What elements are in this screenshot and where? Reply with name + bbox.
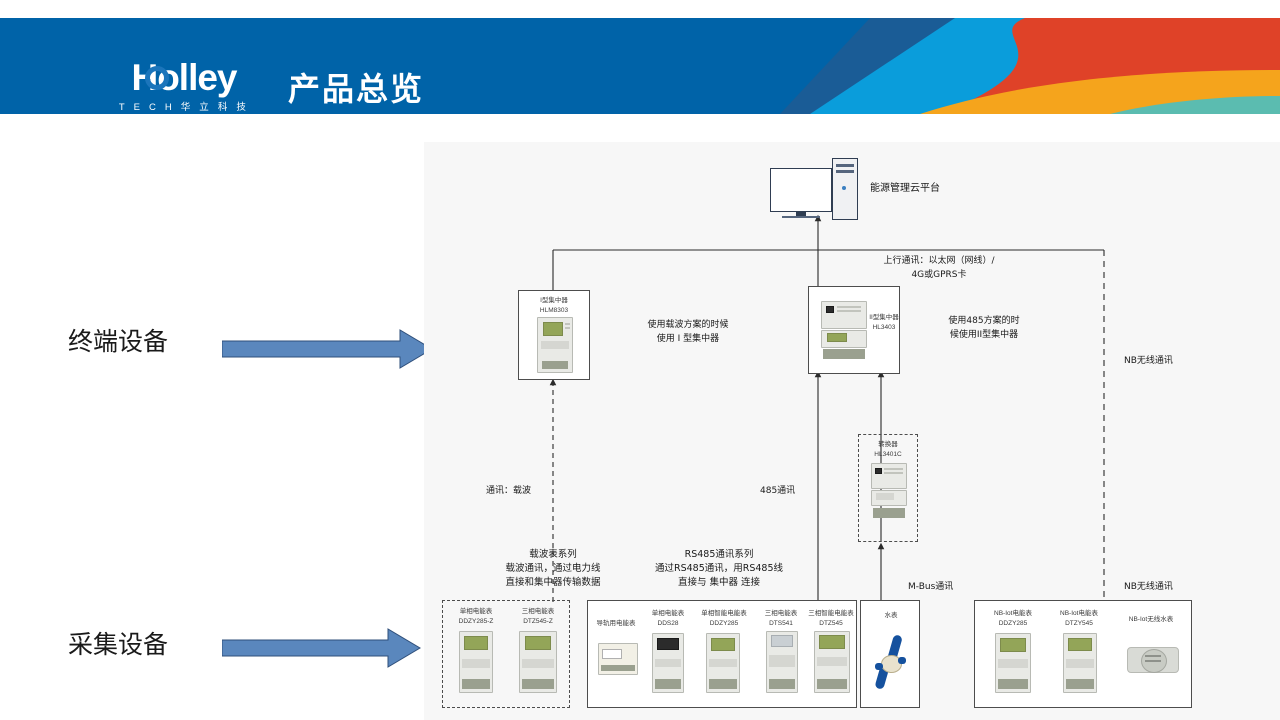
carrier-meter-group[interactable]: 单相电能表 DDZY285-Z 三相电能表 DTZ545-Z	[442, 600, 570, 708]
rs485-meter-0-image	[598, 643, 638, 675]
concentrator-type1-image	[537, 317, 573, 373]
nbiot-meter-1-model: DTZY545	[1049, 619, 1109, 628]
rs485-meter-2-model: DDZY285	[692, 619, 756, 628]
converter-node[interactable]: 转换器 HL3401C	[858, 434, 918, 542]
arrow-collection-equipment	[222, 627, 422, 669]
link-label-nb-bottom: NB无线通讯	[1124, 580, 1173, 594]
carrier-meter-0-name: 单相电能表	[449, 607, 503, 616]
concentrator-type1-note-line2: 使用 I 型集中器	[598, 332, 778, 346]
pc-tower-slot-icon	[836, 164, 854, 167]
rs485-meter-4-image	[814, 631, 850, 693]
carrier-meter-0-model: DDZY285-Z	[449, 617, 503, 626]
rs485-meter-group[interactable]: 导轨用电能表 单相电能表 DDS28 单相智能电能表 DDZY285 三相电能表…	[587, 600, 857, 708]
nbiot-water-meter-icon	[1127, 639, 1179, 679]
concentrator-type2-model: HL3403	[867, 323, 901, 332]
converter-model: HL3401C	[859, 449, 917, 459]
water-meter-name: 水表	[861, 611, 921, 620]
page-header: Holley T E C H 华 立 科 技 产品总览	[0, 18, 1280, 114]
rs485-meter-4-name: 三相智能电能表	[802, 609, 860, 618]
uplink-note-line2: 4G或GPRS卡	[824, 268, 1054, 282]
logo-ring-icon	[145, 66, 169, 90]
rs485-group-title-1: 通过RS485通讯，用RS485线	[584, 562, 854, 576]
concentrator-type2-node[interactable]: II型集中器 HL3403	[808, 286, 900, 374]
rs485-meter-1-name: 单相电能表	[642, 609, 694, 618]
rs485-meter-3-image	[766, 631, 798, 693]
system-architecture-diagram: 能源管理云平台 上行通讯：以太网（网线）/ 4G或GPRS卡 I型集中器 HLM…	[424, 142, 1280, 720]
link-label-rs485: 485通讯	[760, 484, 795, 498]
concentrator-type2-title: II型集中器	[867, 313, 901, 322]
nbiot-meter-0-name: NB-Iot电能表	[983, 609, 1043, 618]
nbiot-meter-0-image	[995, 633, 1031, 693]
carrier-meter-1-image	[519, 631, 557, 693]
water-meter-group[interactable]: 水表	[860, 600, 920, 708]
rs485-meter-3-name: 三相电能表	[756, 609, 806, 618]
cloud-platform-label: 能源管理云平台	[870, 182, 940, 196]
rs485-group-title-2: 直接与 集中器 连接	[584, 576, 854, 590]
converter-title: 转换器	[859, 435, 917, 449]
section-label-terminal-equipment: 终端设备	[68, 322, 168, 358]
rs485-meter-1-image	[652, 633, 684, 693]
page-title: 产品总览	[288, 64, 424, 110]
carrier-meter-0-image	[459, 631, 493, 693]
concentrator-type1-node[interactable]: I型集中器 HLM8303	[518, 290, 590, 380]
water-meter-icon	[873, 633, 909, 689]
rs485-meter-1-model: DDS28	[642, 619, 694, 628]
rs485-meter-4-model: DTZ545	[802, 619, 860, 628]
nbiot-meter-1-name: NB-Iot电能表	[1049, 609, 1109, 618]
link-label-nb-right: NB无线通讯	[1124, 354, 1173, 368]
nbiot-meter-2-name: NB-Iot无线水表	[1115, 615, 1187, 624]
uplink-note-line1: 上行通讯：以太网（网线）/	[824, 254, 1054, 268]
pc-tower-slot-icon	[836, 170, 854, 173]
arrow-terminal-equipment	[222, 328, 434, 370]
converter-image	[871, 463, 907, 525]
concentrator-type1-title: I型集中器	[519, 291, 589, 305]
concentrator-type2-note-line2: 候使用II型集中器	[904, 328, 1064, 342]
logo-subtitle: T E C H 华 立 科 技	[119, 99, 249, 113]
header-swoosh-graphic	[780, 18, 1280, 114]
concentrator-type2-note-line1: 使用485方案的时	[904, 314, 1064, 328]
nbiot-meter-group[interactable]: NB-Iot电能表 DDZY285 NB-Iot电能表 DTZY545 NB-I…	[974, 600, 1192, 708]
rs485-group-title-0: RS485通讯系列	[584, 548, 854, 562]
rs485-meter-2-image	[706, 633, 740, 693]
rs485-meter-2-name: 单相智能电能表	[692, 609, 756, 618]
nbiot-meter-1-image	[1063, 633, 1097, 693]
holley-logo: Holley T E C H 华 立 科 技	[104, 60, 264, 112]
link-label-carrier: 通讯：载波	[486, 484, 531, 498]
rs485-meter-3-model: DTS541	[756, 619, 806, 628]
concentrator-type1-note-line1: 使用载波方案的时候	[598, 318, 778, 332]
carrier-meter-1-model: DTZ545-Z	[511, 617, 565, 626]
concentrator-type2-image	[821, 301, 867, 361]
section-label-collection-equipment: 采集设备	[68, 625, 168, 661]
pc-power-led-icon	[842, 186, 846, 190]
nbiot-meter-0-model: DDZY285	[983, 619, 1043, 628]
carrier-meter-1-name: 三相电能表	[511, 607, 565, 616]
monitor-icon	[770, 168, 832, 212]
concentrator-type1-model: HLM8303	[519, 305, 589, 315]
monitor-base-icon	[782, 216, 820, 218]
link-label-mbus: M-Bus通讯	[908, 580, 953, 594]
rs485-meter-0-name: 导轨用电能表	[590, 619, 642, 628]
